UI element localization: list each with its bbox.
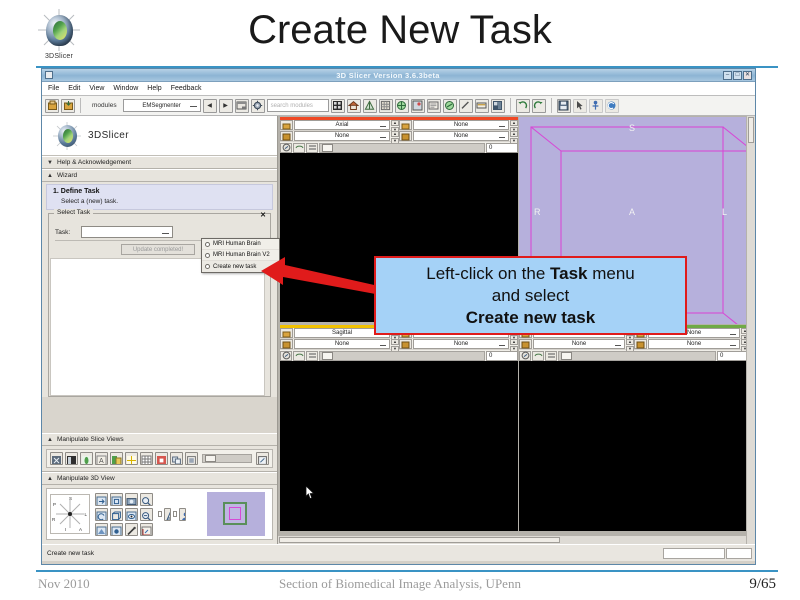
- labelmap-value: None: [454, 133, 468, 139]
- background-spinner[interactable]: ▲▼: [626, 339, 634, 349]
- callout-line-1: Left-click on the Task menu: [426, 263, 635, 285]
- orientation-compass-icon[interactable]: S L A I R P: [50, 494, 90, 534]
- chevron-down-icon: [499, 344, 505, 346]
- background-spinner[interactable]: ▲▼: [391, 131, 399, 141]
- slice-slider[interactable]: [319, 351, 485, 361]
- section-help-label: Help & Acknowledgement: [57, 159, 131, 166]
- foreground-value: None: [454, 122, 468, 128]
- chevron-down-icon: [730, 344, 736, 346]
- ruler-icon[interactable]: [125, 523, 138, 536]
- radio-icon: [205, 253, 210, 258]
- pin-icon[interactable]: [280, 120, 293, 130]
- svg-text:A: A: [99, 458, 104, 465]
- left-module-panel: 3DSlicer ▼ Help & Acknowledgement ▲ Wiza…: [42, 116, 278, 544]
- fiducial-mode-icon[interactable]: [589, 99, 603, 113]
- callout-line1-suffix: menu: [588, 264, 635, 283]
- fit-to-window-icon[interactable]: [50, 452, 63, 465]
- slice-slider-handle[interactable]: [322, 352, 333, 360]
- footer-page-number: 9/65: [749, 576, 776, 593]
- status-field-1: [663, 548, 725, 559]
- wizard-step-box: 1. Define Task Select a (new) task.: [46, 184, 273, 210]
- close-icon[interactable]: ✕: [260, 211, 266, 219]
- chevron-up-icon: ▲: [47, 476, 53, 482]
- slice-value-field[interactable]: 0: [486, 143, 518, 153]
- background-value: None: [335, 133, 349, 139]
- radio-icon: [205, 264, 210, 269]
- scrollbar-thumb[interactable]: [748, 117, 754, 143]
- select-task-legend: Select Task: [54, 209, 93, 216]
- chevron-down-icon: ▼: [47, 160, 53, 166]
- box-icon[interactable]: [110, 508, 123, 521]
- status-fields: [663, 548, 752, 559]
- slice-slider-handle[interactable]: [561, 352, 572, 360]
- annotation-arrow: [255, 255, 385, 295]
- annotation-icon[interactable]: [185, 452, 198, 465]
- viewer-sagittal: Sagittal ▲▼ None ▲▼: [280, 325, 518, 533]
- grid-icon[interactable]: [140, 452, 153, 465]
- manipulate-3d-view-body: S L A I R P: [42, 485, 277, 544]
- fiducials-icon[interactable]: [411, 99, 425, 113]
- section-help-acknowledgement[interactable]: ▼ Help & Acknowledgement: [42, 156, 277, 169]
- layout-icon[interactable]: [475, 99, 489, 113]
- viewer-axial-row2: None ▲▼ None ▲▼: [280, 131, 518, 142]
- background-value: None: [335, 341, 349, 347]
- task-content-area: [50, 258, 265, 396]
- wizard-body: 1. Define Task Select a (new) task. Sele…: [42, 182, 277, 397]
- task-label: Task:: [55, 229, 81, 236]
- slice-slider[interactable]: [319, 143, 485, 153]
- window-title: 3D Slicer Version 3.6.3beta: [53, 71, 723, 80]
- chevron-down-icon: [162, 232, 169, 234]
- reload-icon[interactable]: [605, 99, 619, 113]
- mouse-cursor-icon: [305, 486, 315, 499]
- slide-logo-label: 3DSlicer: [28, 53, 90, 60]
- slice-value-field[interactable]: 0: [717, 351, 749, 361]
- maximize-button[interactable]: □: [733, 71, 742, 80]
- chevron-down-icon: [380, 136, 386, 138]
- callout-line1-bold: Task: [550, 264, 588, 283]
- wizard-step-title: 1. Define Task: [53, 188, 266, 195]
- fit-slice-icon[interactable]: [306, 143, 318, 153]
- module-selector-value: EMSegmenter: [142, 103, 180, 109]
- brand-label: 3DSlicer: [88, 130, 129, 141]
- background-spinner[interactable]: ▲▼: [391, 339, 399, 349]
- pin-icon-right[interactable]: [399, 120, 412, 130]
- chevron-up-icon: ▲: [47, 437, 53, 443]
- spin-up-icon[interactable]: ▲: [510, 339, 518, 345]
- camera-icon[interactable]: [179, 508, 186, 521]
- link-icon[interactable]: [170, 452, 183, 465]
- viewer-sagittal-row2: None ▲▼ None ▲▼: [280, 339, 518, 350]
- manipulate-slice-views-body: A: [42, 446, 277, 472]
- spin-up-icon[interactable]: ▲: [510, 120, 518, 126]
- pin-icon[interactable]: [280, 328, 293, 338]
- callout-line1-prefix: Left-click on the: [426, 264, 550, 283]
- compass-label-i: I: [65, 527, 66, 532]
- link-views-icon[interactable]: [280, 351, 292, 361]
- background-value: None: [572, 341, 586, 347]
- viewer-horizontal-scrollbar[interactable]: [278, 535, 746, 544]
- compass-label-a: A: [79, 527, 82, 532]
- logo-sphere-small: [58, 125, 77, 147]
- prev-module-icon[interactable]: ◀: [203, 99, 217, 113]
- center-view-icon[interactable]: [110, 493, 123, 506]
- label-pin-icon[interactable]: [280, 339, 293, 349]
- next-module-icon[interactable]: ▶: [219, 99, 233, 113]
- fit-slice-icon[interactable]: [306, 351, 318, 361]
- sagittal-slice-canvas[interactable]: [280, 361, 518, 531]
- foreground-icon[interactable]: [80, 452, 93, 465]
- chevron-down-icon: [380, 125, 386, 127]
- page-title: Create New Task: [0, 8, 800, 53]
- menu-window[interactable]: Window: [113, 85, 138, 92]
- labelmap-pin-icon[interactable]: [399, 339, 412, 349]
- labelmap-spinner[interactable]: ▲▼: [510, 339, 518, 349]
- background-combobox[interactable]: None: [294, 131, 390, 141]
- menubar: File Edit View Window Help Feedback: [42, 82, 755, 96]
- section-manipulate-slice-views[interactable]: ▲ Manipulate Slice Views: [42, 433, 277, 446]
- view-3d-preview[interactable]: [207, 492, 265, 536]
- left-panel-bottom: ▲ Manipulate Slice Views A: [42, 433, 277, 544]
- lights-icon[interactable]: [164, 508, 171, 521]
- orientation-combobox[interactable]: Axial: [294, 120, 390, 130]
- save-scene-icon[interactable]: [61, 99, 75, 113]
- module-header: 3DSlicer: [42, 116, 277, 156]
- center-icon[interactable]: [155, 452, 168, 465]
- menu-feedback[interactable]: Feedback: [171, 85, 202, 92]
- slice-value-field[interactable]: 0: [486, 351, 518, 361]
- callout-line-2: and select: [492, 285, 570, 307]
- viewer-axial-header: Axial ▲▼ None ▲▼ N: [280, 120, 518, 153]
- look-from-icon[interactable]: [95, 493, 108, 506]
- footer-divider: [36, 570, 778, 572]
- spin-up-icon[interactable]: ▲: [391, 131, 399, 137]
- chevron-down-icon: [615, 344, 621, 346]
- scrollbar-thumb[interactable]: [279, 537, 560, 543]
- background-combobox[interactable]: None: [533, 339, 625, 349]
- task-option-label: Create new task: [213, 264, 256, 270]
- zoom-in-icon[interactable]: [140, 493, 153, 506]
- measurement-icon[interactable]: [443, 99, 457, 113]
- label-pin-icon[interactable]: [519, 339, 532, 349]
- background-combobox[interactable]: None: [294, 339, 390, 349]
- slice-view-toolbar: A: [46, 449, 273, 468]
- annotations-icon[interactable]: [427, 99, 441, 113]
- link-views-icon[interactable]: [519, 351, 531, 361]
- window-titlebar[interactable]: 3D Slicer Version 3.6.3beta – □ ✕: [42, 69, 755, 82]
- slice-slider[interactable]: [558, 351, 716, 361]
- orientation-label-right: R: [534, 207, 541, 217]
- viewer-axial-controls: 0: [280, 142, 518, 153]
- transforms-icon[interactable]: [379, 99, 393, 113]
- rotate-icon[interactable]: [256, 452, 269, 465]
- spin-up-icon[interactable]: ▲: [626, 339, 634, 345]
- save-icon[interactable]: [557, 99, 571, 113]
- manipulate-slice-views-label: Manipulate Slice Views: [57, 436, 124, 443]
- visibility-icon[interactable]: [532, 351, 544, 361]
- mouse-mode-icon[interactable]: [573, 99, 587, 113]
- statusbar: Create new task: [42, 544, 755, 561]
- labelmap-value: None: [687, 341, 701, 347]
- callout-line-3: Create new task: [466, 307, 595, 329]
- eye-icon[interactable]: [125, 508, 138, 521]
- close-button[interactable]: ✕: [743, 71, 752, 80]
- compass-label-s: S: [69, 496, 72, 501]
- chevron-up-icon: ▲: [47, 173, 53, 179]
- link-views-icon[interactable]: [280, 143, 292, 153]
- compare-layout-icon[interactable]: [65, 452, 78, 465]
- foreground-value: None: [687, 330, 701, 336]
- labelmap-pin-icon[interactable]: [634, 339, 647, 349]
- undo-icon[interactable]: [516, 99, 530, 113]
- section-wizard[interactable]: ▲ Wizard: [42, 169, 277, 182]
- viewer-coronal-controls: 0: [519, 350, 749, 361]
- spin-up-icon[interactable]: ▲: [510, 131, 518, 137]
- orientation-label-anterior: A: [629, 207, 635, 217]
- labelmap-combobox[interactable]: None: [413, 339, 509, 349]
- visibility-icon[interactable]: [293, 351, 305, 361]
- label-pin-icon[interactable]: [280, 131, 293, 141]
- crosshair-icon[interactable]: [125, 452, 138, 465]
- visibility-icon[interactable]: [293, 143, 305, 153]
- fit-slice-icon[interactable]: [545, 351, 557, 361]
- labelmap-value: None: [454, 341, 468, 347]
- slicer-logo-icon: [52, 121, 82, 151]
- radio-icon: [205, 242, 210, 247]
- section-manipulate-3d-view[interactable]: ▲ Manipulate 3D View: [42, 472, 277, 485]
- load-scene-icon[interactable]: [45, 99, 59, 113]
- chevron-down-icon: [499, 125, 505, 127]
- orientation-value: Axial: [335, 122, 348, 128]
- slice-slider-handle[interactable]: [322, 144, 333, 152]
- viewer-sagittal-controls: 0: [280, 350, 518, 361]
- labelmap-pin-icon[interactable]: [399, 131, 412, 141]
- labelmap-spinner[interactable]: ▲▼: [510, 131, 518, 141]
- manipulate-3d-view-inner: S L A I R P: [46, 488, 273, 540]
- window-controls: – □ ✕: [723, 71, 752, 80]
- menu-edit[interactable]: Edit: [68, 85, 80, 92]
- minimize-button[interactable]: –: [723, 71, 732, 80]
- zoom-out-icon[interactable]: [140, 508, 153, 521]
- fullscreen-icon[interactable]: [110, 523, 123, 536]
- chevron-down-icon: [190, 105, 197, 107]
- spin-up-icon[interactable]: ▲: [391, 120, 399, 126]
- foreground-spinner[interactable]: ▲▼: [510, 120, 518, 130]
- orientation-label-superior: S: [629, 123, 635, 133]
- task-option-label: MRI Human Brain: [213, 241, 261, 247]
- menu-file[interactable]: File: [48, 85, 59, 92]
- screenshot-3d-icon[interactable]: [125, 493, 138, 506]
- foreground-combobox[interactable]: None: [413, 120, 509, 130]
- orientation-value: Sagittal: [332, 330, 352, 336]
- task-combobox[interactable]: [81, 226, 173, 238]
- module-selector[interactable]: EMSegmenter: [123, 99, 201, 112]
- label-map-icon[interactable]: A: [95, 452, 108, 465]
- chevron-down-icon: [499, 136, 505, 138]
- preview-cube: [223, 502, 247, 525]
- labelmap-combobox[interactable]: None: [413, 131, 509, 141]
- viewer-coronal-row2: None ▲▼ None ▲▼: [519, 339, 749, 350]
- checkbox-axis-labels[interactable]: [158, 511, 162, 517]
- menu-help[interactable]: Help: [147, 85, 161, 92]
- home-icon[interactable]: [347, 99, 361, 113]
- status-field-2: [726, 548, 752, 559]
- module-history-icon[interactable]: [235, 99, 249, 113]
- colors-icon[interactable]: [459, 99, 473, 113]
- menu-view[interactable]: View: [89, 85, 104, 92]
- slider-handle[interactable]: [205, 455, 216, 462]
- slice-opacity-slider[interactable]: [202, 454, 252, 463]
- chevron-down-icon: [730, 333, 736, 335]
- module-settings-icon[interactable]: [251, 99, 265, 113]
- spin-icon[interactable]: [95, 508, 108, 521]
- toolbar-separator-2: [510, 98, 511, 113]
- viewer-axial-row1: Axial ▲▼ None ▲▼: [280, 120, 518, 131]
- task-row: Task:: [55, 226, 273, 238]
- axis-icon[interactable]: [140, 523, 153, 536]
- toolbar-separator: [80, 98, 81, 113]
- viewer-vertical-scrollbar[interactable]: [746, 116, 755, 544]
- compass-label-l: L: [84, 512, 87, 517]
- stereo-icon[interactable]: [95, 523, 108, 536]
- coronal-slice-canvas[interactable]: [519, 361, 749, 531]
- section-wizard-label: Wizard: [57, 172, 77, 179]
- chevron-down-icon: [380, 344, 386, 346]
- compass-label-r: R: [52, 517, 55, 522]
- viewer-coronal: Coronal ▲▼ None ▲▼: [519, 325, 749, 533]
- orientation-label-left: L: [722, 207, 727, 217]
- screenshot-icon[interactable]: [491, 99, 505, 113]
- compass-label-p: P: [53, 502, 56, 507]
- view-3d-button-grid: [95, 493, 153, 536]
- task-option-mri-human-brain[interactable]: MRI Human Brain: [202, 239, 279, 250]
- orientation-spinner[interactable]: ▲▼: [391, 120, 399, 130]
- background-icon[interactable]: [110, 452, 123, 465]
- toolbar-separator-3: [551, 98, 552, 113]
- view-3d-toggle-column: [158, 508, 186, 521]
- select-task-group: Select Task ✕ Task: Update completed!: [48, 213, 271, 397]
- status-message: Create new task: [47, 550, 94, 557]
- editor-icon[interactable]: [395, 99, 409, 113]
- wizard-step-subtitle: Select a (new) task.: [53, 198, 266, 205]
- instruction-callout: Left-click on the Task menu and select C…: [374, 256, 687, 335]
- main-toolbar: modules EMSegmenter ◀ ▶ search modules: [42, 96, 755, 116]
- spin-up-icon[interactable]: ▲: [391, 339, 399, 345]
- checkbox-stereo[interactable]: [173, 511, 177, 517]
- models-icon[interactable]: [363, 99, 377, 113]
- manipulate-3d-view-label: Manipulate 3D View: [57, 475, 115, 482]
- window-app-icon: [45, 71, 53, 79]
- volumes-icon[interactable]: [331, 99, 345, 113]
- update-completed-button[interactable]: Update completed!: [121, 244, 195, 255]
- redo-icon[interactable]: [532, 99, 546, 113]
- modules-label: modules: [92, 102, 117, 109]
- search-input[interactable]: search modules: [267, 99, 329, 112]
- footer-attribution: Section of Biomedical Image Analysis, UP…: [0, 576, 800, 592]
- labelmap-combobox[interactable]: None: [648, 339, 740, 349]
